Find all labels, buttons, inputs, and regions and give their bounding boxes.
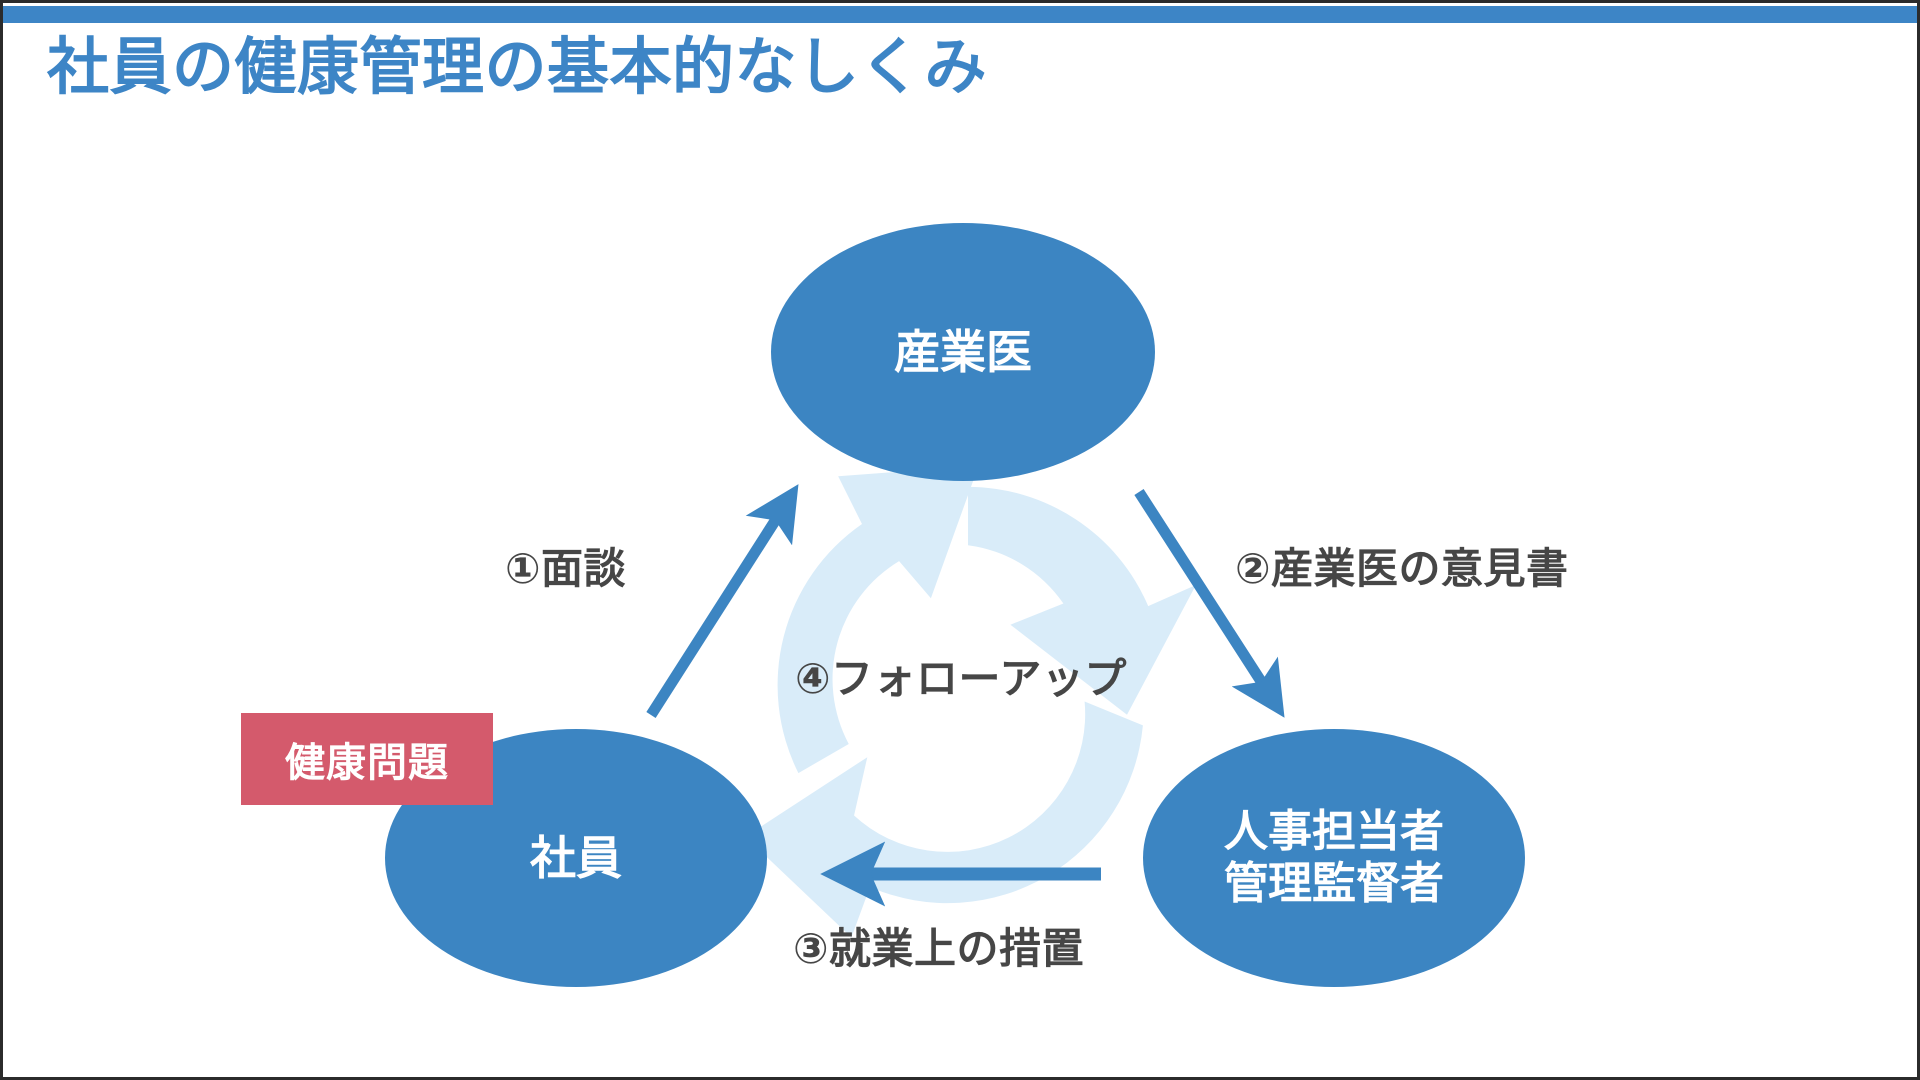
step-label-1-interview: ①面談 xyxy=(505,535,626,596)
slide-top-accent-band xyxy=(3,6,1920,23)
slide-canvas: 社員の健康管理の基本的なしくみ xyxy=(0,0,1920,1080)
node-hr-label-line2: 管理監督者 xyxy=(1224,858,1444,910)
node-hr-and-supervisor-label: 人事担当者 管理監督者 xyxy=(1224,806,1444,910)
arrow-step-2 xyxy=(1139,492,1275,703)
step-label-3-workplace-measures: ③就業上の措置 xyxy=(793,915,1084,976)
node-occupational-physician-label: 産業医 xyxy=(894,325,1032,379)
step-label-2-physician-opinion: ②産業医の意見書 xyxy=(1235,535,1569,596)
node-employee-label: 社員 xyxy=(530,831,622,885)
node-hr-and-supervisor[interactable]: 人事担当者 管理監督者 xyxy=(1143,729,1525,987)
page-title: 社員の健康管理の基本的なしくみ xyxy=(47,33,987,102)
status-badge-health-problem: 健康問題 xyxy=(241,713,493,805)
node-occupational-physician[interactable]: 産業医 xyxy=(771,223,1155,481)
arrow-step-1 xyxy=(651,499,789,715)
node-hr-label-line1: 人事担当者 xyxy=(1224,806,1444,858)
step-label-4-follow-up: ④フォローアップ xyxy=(795,645,1127,706)
